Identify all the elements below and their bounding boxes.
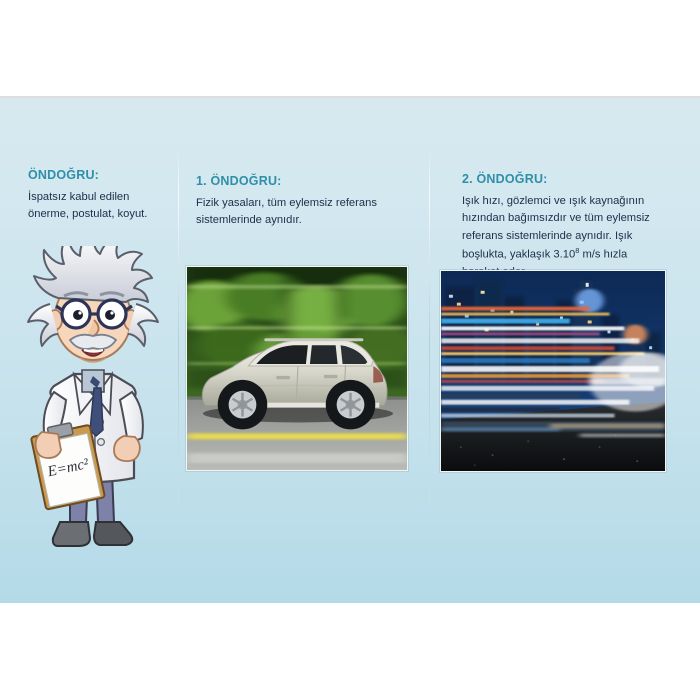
- slide-panel: ÖNDOĞRU: İspatsız kabul edilen önerme, p…: [0, 96, 700, 603]
- postulate-1-body: Fizik yasaları, tüm eylemsiz referans si…: [196, 195, 401, 230]
- postulate-2-body: Işık hızı, gözlemci ve ışık kaynağının h…: [462, 193, 662, 282]
- definition-body: İspatsız kabul edilen önerme, postulat, …: [28, 189, 163, 224]
- column-definition: ÖNDOĞRU: İspatsız kabul edilen önerme, p…: [28, 168, 163, 224]
- einstein-cartoon: E=mc²: [8, 246, 174, 558]
- moving-car-photo: [186, 266, 408, 471]
- moving-car-illustration: [187, 267, 407, 470]
- city-light-trails-photo: [440, 270, 666, 472]
- column-divider-1: [178, 152, 179, 502]
- column-divider-2: [429, 152, 430, 502]
- definition-heading: ÖNDOĞRU:: [28, 168, 163, 182]
- postulate-2-line-4-pre: yaklaşık 3.10: [510, 249, 575, 261]
- column-postulate-1: 1. ÖNDOĞRU: Fizik yasaları, tüm eylemsiz…: [196, 174, 401, 230]
- postulate-2-line-1: Işık hızı, gözlemci ve ışık kaynağının: [462, 195, 644, 207]
- column-postulate-2: 2. ÖNDOĞRU: Işık hızı, gözlemci ve ışık …: [462, 172, 662, 282]
- light-trails-illustration: [441, 271, 665, 471]
- postulate-2-heading: 2. ÖNDOĞRU:: [462, 172, 662, 186]
- slide-page: ÖNDOĞRU: İspatsız kabul edilen önerme, p…: [0, 0, 700, 700]
- postulate-1-heading: 1. ÖNDOĞRU:: [196, 174, 401, 188]
- postulate-2-line-2: hızından bağımsızdır ve tüm eylemsiz: [462, 212, 650, 224]
- einstein-illustration: E=mc²: [8, 246, 174, 558]
